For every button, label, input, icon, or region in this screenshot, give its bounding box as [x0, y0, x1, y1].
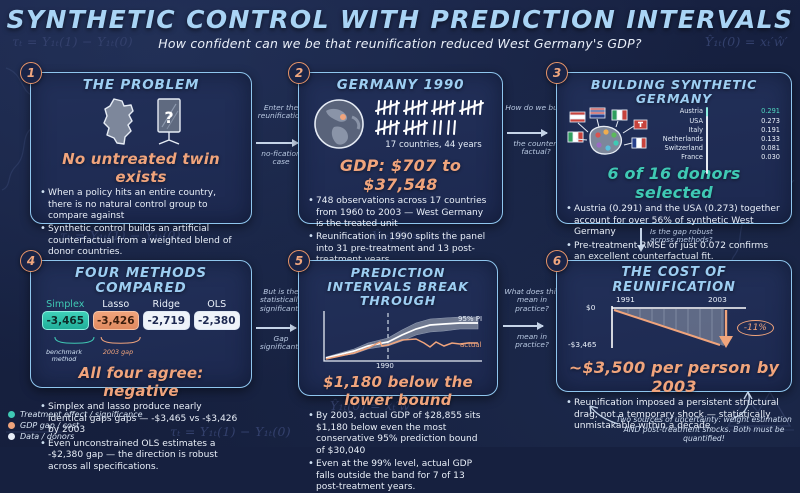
donor-value: 0.291 [761, 107, 780, 115]
panel-4-caption-left: benchmark method [40, 349, 88, 363]
panel-1-bullets: When a policy hits an entire country, th… [40, 188, 242, 259]
footnote: Two sources of uncertainty: weight estim… [614, 415, 794, 443]
panel-cost-of-reunification: THE COST OF REUNIFICATION $0 -$3,465 199… [556, 260, 792, 392]
method-ridge: Ridge -2,719 [143, 299, 190, 330]
cost-chart-x-end-label: 2003 [708, 295, 727, 304]
connector-1-arrow [256, 142, 298, 144]
cost-chart-y-bottom-label: -$3,465 [568, 340, 597, 349]
donor-value: 0.273 [761, 117, 780, 125]
connector-3-label: Is the gap robust across methods? [650, 228, 728, 245]
panel-4-caption-right: 2003 gap [92, 349, 144, 363]
table-row: Switzerland 0.081 [658, 144, 780, 152]
method-name: Simplex [42, 299, 89, 310]
svg-text:?: ? [164, 108, 173, 127]
panel-6-heading: THE COST OF REUNIFICATION [566, 266, 782, 295]
legend-label: GDP gap / cost [20, 421, 79, 430]
method-value: -3,426 [93, 311, 140, 330]
legend-item: Data / donors [8, 432, 143, 441]
page-subtitle: How confident can we be that reunificati… [0, 36, 800, 51]
method-name: OLS [194, 299, 241, 310]
panel-2-heading: GERMANY 1990 [308, 78, 493, 93]
donor-name: Switzerland [658, 144, 706, 152]
donor-value: 0.030 [761, 153, 780, 161]
connector-5-top-label: What does this mean in practice? [501, 288, 563, 313]
table-row: Italy 0.191 [658, 126, 780, 134]
palette-flags-icon [566, 106, 654, 163]
tally-marks-icon [375, 99, 493, 139]
method-name: Ridge [143, 299, 190, 310]
chart5-legend-actual: actual [460, 341, 482, 349]
panel-1-heading: THE PROBLEM [40, 78, 242, 93]
method-simplex: Simplex -3,465 [42, 299, 89, 330]
prediction-intervals-chart: 95% PI actual 1990 [310, 309, 486, 373]
tally-marks-group: 17 countries, 44 years [374, 99, 493, 150]
connector-5-bottom-label: mean in practice? [501, 333, 563, 350]
mirror-question-icon: ? [154, 97, 184, 147]
method-name: Lasso [93, 299, 140, 310]
legend-label: Data / donors [20, 432, 74, 441]
donor-name: Netherlands [658, 135, 706, 143]
donor-name: USA [658, 117, 706, 125]
donor-value: 0.133 [761, 135, 780, 143]
cost-chart-x-start-label: 1991 [616, 295, 635, 304]
method-lasso: Lasso -3,426 [93, 299, 140, 330]
panel-1-headline: No untreated twin exists [40, 150, 242, 186]
panel-4-headline: All four agree: negative [40, 364, 242, 400]
method-value: -2,719 [143, 311, 190, 330]
list-item: Synthetic control builds an artificial c… [40, 224, 242, 258]
panel-the-problem: THE PROBLEM ? No untreated twin exists W… [30, 72, 252, 224]
legend-dot-teal [8, 411, 15, 418]
panel-5-heading: PREDICTION INTERVALS BREAK THROUGH [308, 266, 488, 308]
table-row: France 0.030 [658, 153, 780, 161]
panel-3-heading: BUILDING SYNTHETIC GERMANY [566, 78, 782, 106]
panel-1-illustration: ? [40, 95, 242, 149]
list-item: Even unconstrained OLS estimates a -$2,3… [40, 439, 242, 473]
panel-2-headline: GDP: $707 to $37,548 [308, 156, 493, 194]
panel-four-methods-compared: FOUR METHODS COMPARED Simplex -3,465 Las… [30, 260, 252, 388]
legend-item: GDP gap / cost [8, 421, 143, 430]
donor-weights-chart: Austria 0.291 USA 0.273 Italy 0.191 Neth… [658, 107, 782, 162]
method-braces [40, 337, 244, 345]
table-row: Netherlands 0.133 [658, 135, 780, 143]
germany-map-icon [98, 97, 140, 147]
panel-5-bullets: By 2003, actual GDP of $28,855 sits $1,1… [308, 411, 488, 493]
legend-label: Treatment effect / significance [20, 410, 143, 419]
list-item: 748 observations across 17 countries fro… [308, 196, 493, 230]
cost-chart-y-top-label: $0 [586, 303, 595, 312]
connector-4-arrow [256, 327, 296, 329]
table-row: Austria 0.291 [658, 107, 780, 115]
page-title: SYNTHETIC CONTROL WITH PREDICTION INTERV… [0, 5, 800, 34]
chart5-annotation-1990: 1990 [376, 362, 394, 370]
panel-2-tally-caption: 17 countries, 44 years [374, 140, 493, 150]
list-item: By 2003, actual GDP of $28,855 sits $1,1… [308, 411, 488, 457]
globe-icon [312, 97, 366, 151]
donor-value: 0.081 [761, 144, 780, 152]
panel-4-badge: 4 [20, 250, 42, 272]
legend-item: Treatment effect / significance [8, 410, 143, 419]
panel-3-badge: 3 [546, 62, 568, 84]
legend: Treatment effect / significance GDP gap … [8, 410, 143, 443]
cost-chart-pct-annotation: -11% [737, 320, 774, 336]
connector-2-arrow [507, 132, 547, 134]
connector-3-arrow [640, 228, 642, 246]
donor-name: France [658, 153, 706, 161]
panel-4-heading: FOUR METHODS COMPARED [40, 266, 242, 296]
donor-name: Austria [658, 107, 706, 115]
panel-5-badge: 5 [288, 250, 310, 272]
list-item: Even at the 99% level, actual GDP falls … [308, 459, 488, 493]
donor-name: Italy [658, 126, 706, 134]
panel-6-headline: ~$3,500 per person by 2003 [566, 358, 782, 396]
panel-6-badge: 6 [546, 250, 568, 272]
legend-dot-orange [8, 422, 15, 429]
chart5-legend-pi: 95% PI [458, 315, 482, 323]
panel-1-badge: 1 [20, 62, 42, 84]
donor-value: 0.191 [761, 126, 780, 134]
method-value: -3,465 [42, 311, 89, 330]
panel-3-headline: 6 of 16 donors selected [566, 164, 782, 202]
legend-dot-white [8, 433, 15, 440]
panel-2-badge: 2 [288, 62, 310, 84]
panel-2-illustration: 17 countries, 44 years [308, 93, 493, 155]
panel-2-bullets: 748 observations across 17 countries fro… [308, 196, 493, 267]
method-value: -2,380 [194, 311, 241, 330]
table-row: USA 0.273 [658, 117, 780, 125]
panel-prediction-intervals: PREDICTION INTERVALS BREAK THROUGH 95% P… [298, 260, 498, 396]
list-item: When a policy hits an entire country, th… [40, 188, 242, 222]
infographic-canvas: τₜ = Y₁ₜ(1) − Y₁ₜ(0) Ŷ₁ₜ(0) = xₜ′ŵ′ τₜ =… [0, 0, 800, 447]
donor-bar [706, 153, 708, 174]
panel-3-illustration: Austria 0.291 USA 0.273 Italy 0.191 Neth… [566, 106, 782, 163]
panel-germany-1990: GERMANY 1990 [298, 72, 503, 224]
panel-building-synthetic-germany: BUILDING SYNTHETIC GERMANY [556, 72, 792, 224]
connector-5-arrow [503, 325, 543, 327]
cost-of-reunification-chart: $0 -$3,465 1991 2003 -11% [568, 296, 780, 358]
methods-compared-chart: Simplex -3,465 Lasso -3,426 Ridge -2,719… [42, 299, 240, 330]
panel-5-headline: $1,180 below the lower bound [308, 373, 488, 409]
method-ols: OLS -2,380 [194, 299, 241, 330]
